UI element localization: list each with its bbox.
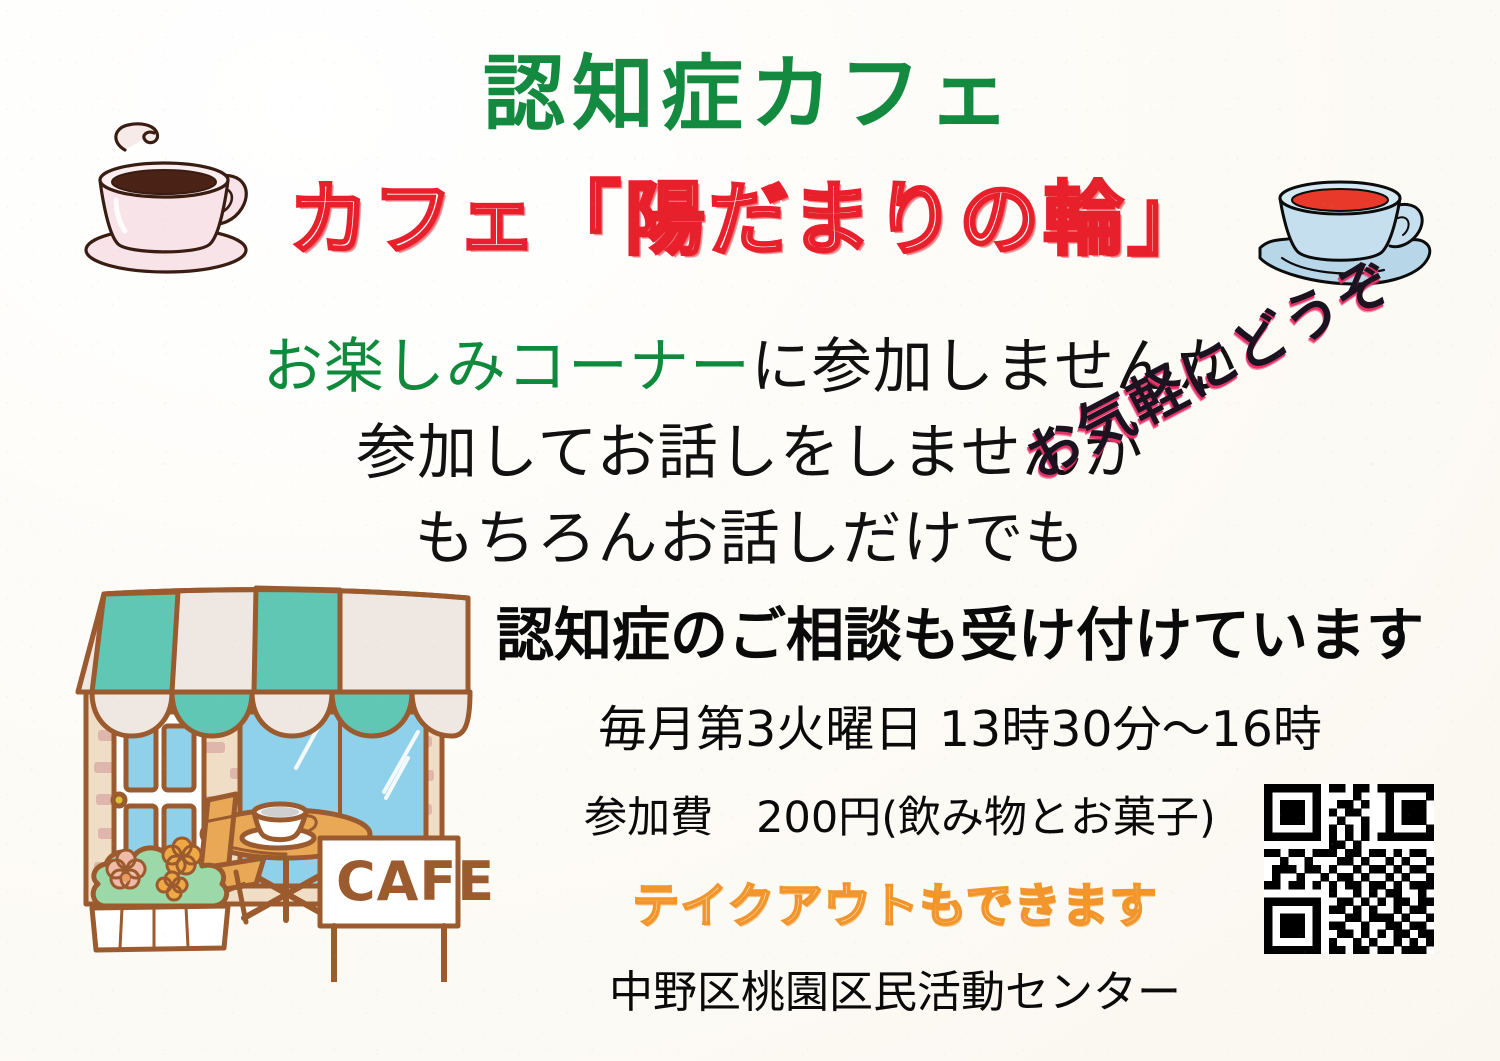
cafe-storefront-icon: CAFE xyxy=(68,572,498,982)
qr-code[interactable] xyxy=(1264,784,1434,954)
lead-line-3: もちろんお話しだけでも xyxy=(0,490,1500,577)
cafe-name-title: カフェ「陽だまりの輪」 xyxy=(0,178,1500,262)
page-title: 認知症カフェ xyxy=(0,52,1500,138)
info-consultation: 認知症のご相談も受け付けています xyxy=(455,588,1465,672)
poster-canvas: 認知症カフェ カフェ「陽だまりの輪」 お楽しみコーナーに参加しませんか 参加して… xyxy=(0,0,1500,1061)
lead-line-1-highlight: お楽しみコーナー xyxy=(263,332,751,402)
info-schedule: 毎月第3火曜日 13時30分〜16時 xyxy=(455,690,1465,761)
lead-line-2: 参加してお話しをしませんか xyxy=(0,404,1500,491)
info-venue: 中野区桃園区民活動センター xyxy=(455,956,1465,1020)
